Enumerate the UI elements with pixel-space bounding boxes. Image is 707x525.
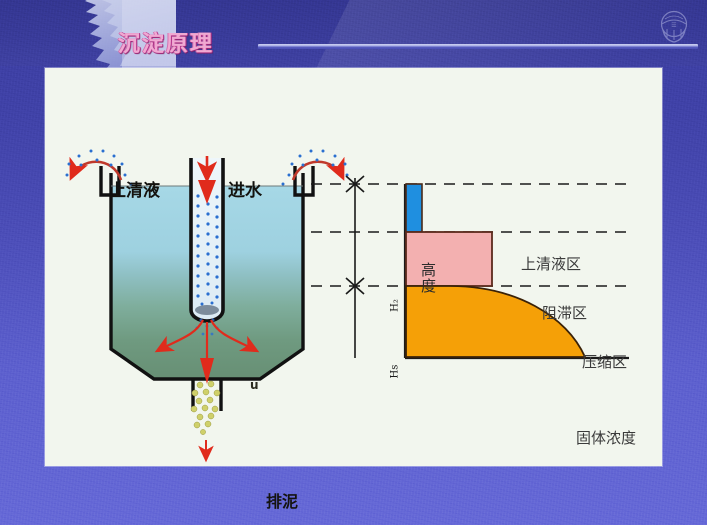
height-annotation-h2: H₂ — [390, 295, 401, 317]
chart-y-axis-label: 高度 — [418, 262, 439, 294]
curved-arrow-right-icon — [282, 150, 349, 186]
height-measure-axis — [346, 176, 364, 358]
chart-x-axis-label: 固体浓度 — [576, 427, 636, 448]
sludge-particles — [191, 381, 220, 435]
concentration-profile-chart — [311, 176, 629, 358]
zone-label-compression: 压缩区 — [582, 351, 627, 372]
svg-text:☰: ☰ — [671, 22, 676, 29]
zone-bar-supernatant — [406, 184, 422, 232]
emblem-circle-icon: ☰ — [653, 6, 695, 48]
zone-label-hindered: 阻滞区 — [542, 302, 587, 323]
slide-root: 沉淀原理 ☰ — [0, 0, 707, 525]
content-panel: 上清液 进水 u 排泥 高度 H₂ Hs 上清液区 阻滞区 压缩区 固体浓度 — [45, 68, 662, 466]
supernatant-label: 上清液 — [109, 176, 160, 201]
settling-velocity-label: u — [250, 378, 259, 392]
influent-label: 进水 — [228, 176, 262, 201]
slide-header: 沉淀原理 ☰ — [0, 0, 707, 66]
title-divider — [258, 44, 698, 49]
height-annotation-hs: Hs — [390, 361, 401, 383]
page-title: 沉淀原理 — [118, 26, 214, 58]
zone-label-supernatant: 上清液区 — [521, 253, 581, 274]
sludge-discharge-label: 排泥 — [266, 488, 298, 512]
